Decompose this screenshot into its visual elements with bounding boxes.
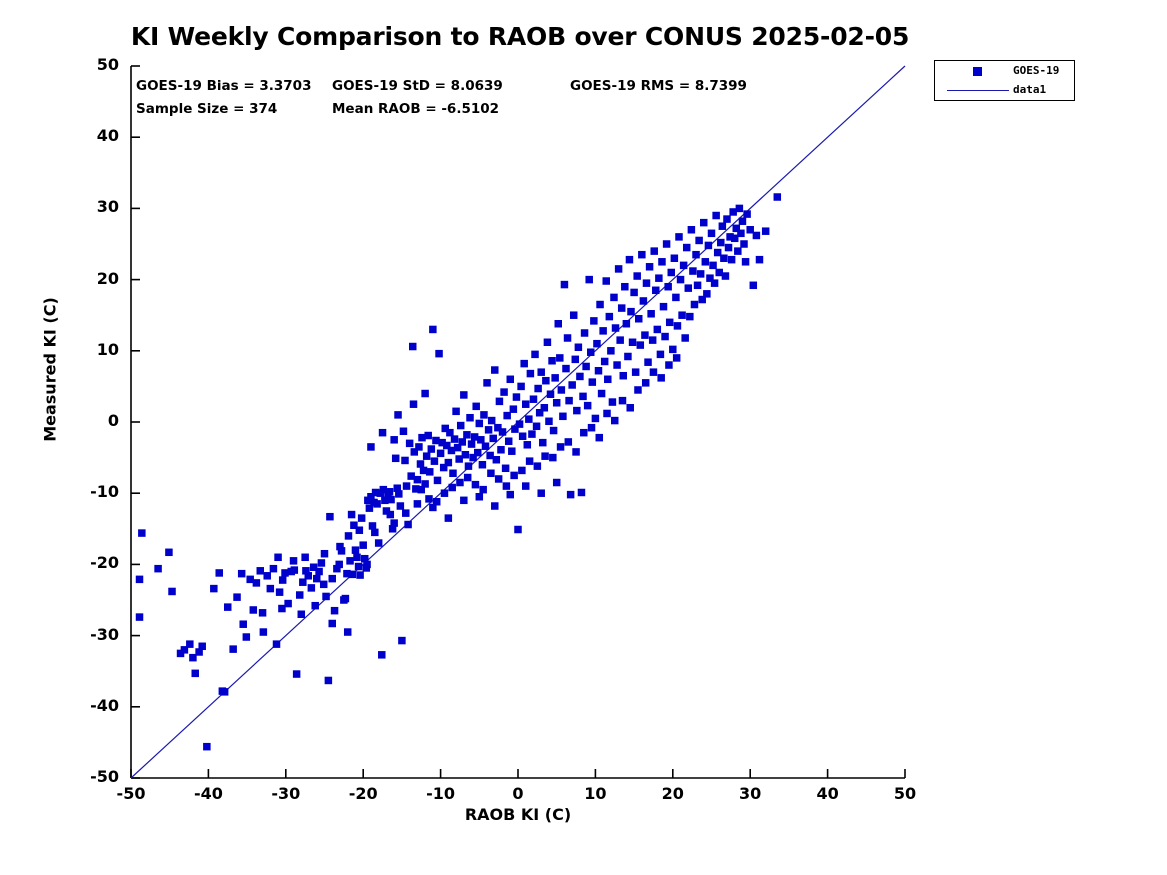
scatter-point [643,279,651,287]
scatter-point [593,340,601,348]
x-tick-label: -20 [333,784,393,803]
scatter-point [403,482,411,490]
scatter-point [355,563,363,571]
scatter-point [165,549,173,557]
scatter-point [299,578,307,586]
scatter-point [526,457,534,465]
x-tick-label: 0 [488,784,548,803]
scatter-point [604,376,612,384]
y-tick-label: 40 [59,126,119,145]
scatter-point [650,247,658,255]
scatter-point [259,609,267,617]
scatter-point [534,385,542,393]
scatter-point [602,277,610,285]
scatter-point [709,262,717,270]
scatter-point [489,435,497,443]
x-axis-ticks [131,769,905,778]
scatter-point [742,258,750,266]
scatter-point [756,256,764,264]
legend-item-goes19[interactable]: GOES-19 [935,62,1074,81]
scatter-point [298,610,306,618]
scatter-point [463,431,471,439]
scatter-point [479,486,487,494]
scatter-point [572,448,580,456]
scatter-point [615,265,623,273]
legend[interactable]: GOES-19 data1 [934,60,1075,101]
scatter-point [278,605,286,613]
scatter-point [503,482,511,490]
scatter-point [539,439,547,447]
scatter-point [549,454,557,462]
scatter-point [720,254,728,261]
scatter-point [445,514,453,522]
scatter-point [460,391,468,399]
scatter-point [750,282,758,290]
legend-label-data1: data1 [1013,83,1046,96]
scatter-point [582,363,590,371]
scatter-point [528,430,536,438]
scatter-point [203,743,211,751]
scatter-point [624,353,632,361]
scatter-point [186,640,194,648]
scatter-point [661,333,669,341]
scatter-point [224,603,232,611]
scatter-point [359,541,367,549]
scatter-point [363,561,371,569]
scatter-point [609,398,617,406]
scatter-point [654,326,662,334]
scatter-point [680,262,688,270]
scatter-point [683,244,691,252]
scatter-point [579,393,587,401]
scatter-point [663,240,671,248]
scatter-point [671,254,679,261]
scatter-point [578,489,586,497]
scatter-point [479,461,487,469]
scatter-point [437,450,445,458]
scatter-markers [136,193,781,750]
scatter-point [472,403,480,411]
scatter-point [390,436,398,444]
scatter-point [459,438,467,446]
y-tick-label: 50 [59,55,119,74]
scatter-point [168,588,176,596]
scatter-point [318,559,326,567]
scatter-point [320,581,328,589]
scatter-point [547,390,555,398]
scatter-point [426,468,434,476]
scatter-point [260,628,268,636]
scatter-point [611,417,619,425]
scatter-point [503,412,511,420]
scatter-point [692,251,700,259]
scatter-point [428,445,436,453]
scatter-point [686,313,694,321]
y-axis-label: Measured KI (C) [41,280,60,460]
scatter-point [590,317,598,325]
scatter-point [349,571,357,579]
scatter-point [719,222,727,230]
scatter-point [711,279,719,287]
scatter-point [409,343,417,351]
scatter-point [634,386,642,394]
scatter-point [558,386,566,394]
legend-square-marker-icon [973,67,982,76]
scatter-point [551,374,559,382]
scatter-point [448,484,456,492]
scatter-point [658,258,666,266]
scatter-point [705,242,713,250]
scatter-point [445,459,453,467]
scatter-point [739,217,747,225]
scatter-point [557,443,565,451]
scatter-point [517,383,525,391]
scatter-point [666,319,674,327]
scatter-point [293,670,301,678]
scatter-point [291,566,299,574]
scatter-point [404,521,412,529]
scatter-point [229,645,237,653]
scatter-point [621,283,629,291]
scatter-point [136,576,144,584]
scatter-point [565,397,573,405]
scatter-point [510,405,517,413]
x-tick-label: -50 [101,784,161,803]
scatter-point [505,437,513,445]
scatter-point [274,554,282,562]
scatter-point [522,482,530,490]
scatter-point [572,356,580,364]
scatter-point [482,442,490,450]
scatter-point [477,436,485,444]
scatter-point [530,395,538,403]
scatter-point [702,258,710,266]
scatter-point [243,633,251,641]
scatter-point [550,427,558,435]
scatter-point [502,465,510,473]
scatter-point [387,496,395,504]
scatter-point [250,606,257,614]
scatter-point [191,670,199,678]
scatter-point [510,472,518,480]
scatter-point [581,329,589,337]
scatter-point [464,474,472,482]
scatter-point [553,479,561,487]
scatter-point [610,294,618,302]
scatter-point [301,554,309,562]
scatter-point [331,607,339,615]
scatter-point [665,361,673,369]
scatter-point [703,290,711,298]
scatter-point [596,434,604,442]
scatter-point [672,294,680,302]
scatter-point [495,475,503,483]
scatter-point [296,591,304,599]
scatter-point [267,585,275,593]
scatter-point [677,276,685,284]
scatter-point [606,313,614,321]
scatter-point [238,570,246,578]
scatter-point [518,467,526,475]
scatter-point [371,529,379,537]
scatter-point [544,339,552,347]
scatter-point [601,358,609,366]
scatter-point [554,320,562,328]
scatter-point [221,688,229,696]
scatter-point [483,379,491,387]
scatter-point [708,230,716,238]
scatter-point [743,210,751,218]
scatter-point [452,408,460,416]
scatter-point [514,526,522,534]
scatter-point [136,613,144,621]
scatter-point [525,415,533,423]
scatter-point [313,575,321,583]
scatter-point [633,272,641,280]
y-tick-label: -50 [59,767,119,786]
scatter-point [465,462,473,470]
scatter-point [567,491,575,499]
scatter-point [565,438,573,446]
scatter-point [541,452,549,460]
scatter-point [541,404,549,412]
scatter-point [736,205,744,213]
scatter-point [392,455,400,463]
scatter-point [417,460,425,468]
y-tick-label: -40 [59,696,119,715]
scatter-point [516,420,524,428]
scatter-point [402,509,410,517]
scatter-point [725,244,733,252]
scatter-point [657,374,665,382]
scatter-point [647,310,655,318]
scatter-point [138,529,146,537]
scatter-point [462,451,470,459]
scatter-point [346,557,354,565]
scatter-point [457,422,465,430]
scatter-point [678,311,686,319]
scatter-point [753,232,761,240]
scatter-point [640,297,648,305]
scatter-point [387,511,395,519]
scatter-point [584,402,592,410]
scatter-point [326,513,334,521]
scatter-point [694,282,702,290]
scatter-point [689,267,697,275]
scatter-point [570,311,578,319]
x-tick-label: 40 [798,784,858,803]
scatter-point [476,420,484,428]
x-tick-label: 30 [720,784,780,803]
scatter-point [398,637,406,645]
scatter-point [315,568,323,576]
scatter-point [508,447,515,455]
scatter-point [632,368,640,376]
scatter-point [664,283,672,291]
scatter-point [431,457,439,465]
scatter-point [613,361,621,369]
scatter-point [311,602,319,610]
y-tick-label: 0 [59,411,119,430]
scatter-point [496,398,504,406]
scatter-point [429,504,437,512]
scatter-point [587,348,595,356]
scatter-point [410,400,418,408]
scatter-point [497,446,505,454]
scatter-point [476,493,484,501]
scatter-point [378,651,386,659]
scatter-point [491,366,499,374]
scatter-point [527,370,535,378]
scatter-point [358,514,366,522]
scatter-point [774,193,782,201]
scatter-point [642,379,650,387]
scatter-point [466,414,474,422]
scatter-point [507,491,515,499]
scatter-point [435,350,443,358]
scatter-point [414,476,422,484]
scatter-point [655,274,663,282]
scatter-point [585,276,593,284]
scatter-point [456,479,464,487]
scatter-point [353,554,361,562]
scatter-point [328,575,336,583]
scatter-point [740,240,748,248]
scatter-point [474,449,482,457]
scatter-point [460,497,468,505]
x-tick-label: 20 [643,784,703,803]
scatter-point [553,399,561,407]
scatter-point [580,429,588,437]
scatter-point [425,495,433,503]
scatter-point [737,230,745,238]
scatter-point [328,620,336,628]
scatter-point [542,377,550,385]
y-tick-label: -10 [59,482,119,501]
scatter-point [603,410,611,418]
scatter-point [627,308,635,316]
scatter-point [681,334,689,342]
x-tick-label: 50 [875,784,935,803]
legend-item-data1[interactable]: data1 [935,81,1074,100]
scatter-point [537,368,545,376]
y-axis-ticks [131,66,140,778]
scatter-point [215,569,223,577]
scatter-point [401,457,409,465]
scatter-point [491,502,499,510]
scatter-point [507,376,515,384]
scatter-point [485,426,493,434]
scatter-point [652,287,660,295]
scatter-point [290,557,298,565]
scatter-point [406,440,414,448]
scatter-point [675,233,683,241]
scatter-point [386,488,394,496]
scatter-point [562,365,570,373]
scatter-point [322,593,330,601]
scatter-point [500,388,508,396]
scatter-point [559,413,567,421]
scatter-point [210,585,218,593]
scatter-point [638,251,646,259]
y-tick-label: 10 [59,340,119,359]
scatter-point [616,336,624,344]
y-tick-label: -30 [59,625,119,644]
scatter-point [345,532,353,540]
scatter-point [488,417,496,425]
scatter-point [257,567,265,575]
scatter-point [595,367,603,375]
scatter-point [418,486,426,494]
scatter-point [644,358,652,366]
scatter-point [379,429,387,437]
scatter-point [548,357,556,365]
scatter-point [493,456,501,464]
scatter-point [520,360,528,368]
scatter-point [423,452,431,460]
scatter-point [395,490,403,498]
scatter-point [446,429,454,437]
scatter-point [695,237,703,245]
scatter-point [369,522,377,530]
x-tick-label: -10 [411,784,471,803]
scatter-point [356,526,364,534]
scatter-point [669,346,677,354]
scatter-point [321,550,329,558]
x-axis-label: RAOB KI (C) [131,805,905,824]
scatter-point [629,339,637,347]
scatter-point [641,331,649,339]
scatter-point [273,640,281,648]
scatter-point [263,572,271,580]
scatter-point [325,677,333,685]
scatter-point [722,272,730,280]
scatter-point [596,301,604,309]
scatter-point [762,227,770,235]
scatter-point [564,334,572,342]
scatter-point [630,289,638,297]
scatter-point [685,284,693,292]
scatter-point [344,628,352,636]
scatter-point [424,432,432,440]
scatter-point [623,320,631,328]
scatter-point [619,397,627,405]
scatter-point [712,212,720,220]
figure-canvas: KI Weekly Comparison to RAOB over CONUS … [0,0,1167,875]
legend-label-goes19: GOES-19 [1013,64,1059,77]
scatter-point [649,336,657,344]
scatter-point [561,281,569,289]
scatter-plot-svg [0,0,1167,875]
scatter-point [723,215,731,223]
scatter-point [534,462,542,470]
scatter-point [480,411,488,419]
scatter-point [414,500,422,508]
scatter-point [697,270,705,278]
scatter-point [198,643,206,651]
scatter-point [660,303,668,311]
scatter-point [335,561,343,569]
scatter-point [573,407,581,415]
scatter-point [367,443,375,451]
scatter-point [588,424,596,432]
scatter-point [522,400,530,408]
scatter-point [472,481,480,489]
scatter-point [468,440,476,448]
scatter-point [599,327,607,335]
scatter-point [524,441,532,449]
scatter-point [556,354,564,362]
